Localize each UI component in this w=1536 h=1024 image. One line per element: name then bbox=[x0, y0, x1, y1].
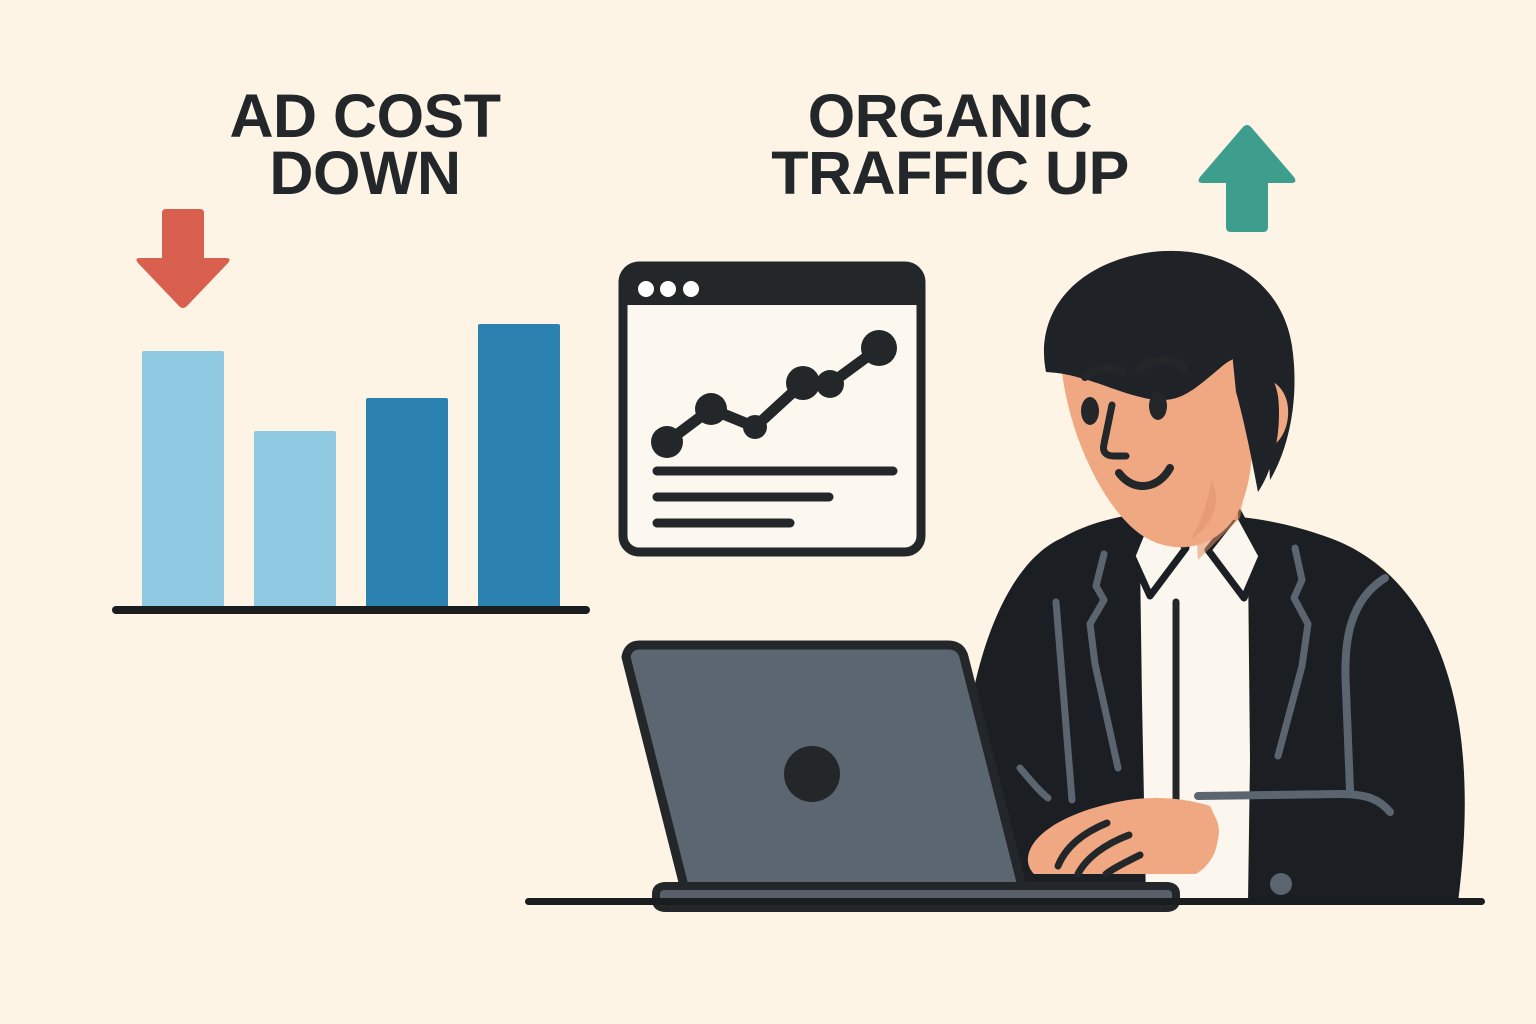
ad-cost-heading: AD COST DOWN bbox=[155, 88, 575, 203]
eye-right bbox=[1149, 392, 1167, 420]
illustration-canvas: AD COST DOWN ORGANIC TRAFFIC UP bbox=[0, 0, 1536, 1024]
desk-line bbox=[525, 898, 1485, 905]
browser-dot-2 bbox=[660, 281, 676, 297]
browser-dot-1 bbox=[638, 281, 654, 297]
bar-4 bbox=[478, 324, 560, 610]
bar-1 bbox=[142, 351, 224, 610]
organic-traffic-heading: ORGANIC TRAFFIC UP bbox=[705, 88, 1195, 203]
chart-baseline bbox=[112, 606, 590, 614]
browser-mockup bbox=[623, 266, 921, 552]
laptop-logo bbox=[784, 746, 840, 802]
eye-left bbox=[1081, 397, 1099, 425]
bar-3 bbox=[366, 398, 448, 610]
bar-2 bbox=[254, 431, 336, 610]
cuff-button bbox=[1270, 873, 1292, 895]
browser-dot-3 bbox=[683, 281, 699, 297]
